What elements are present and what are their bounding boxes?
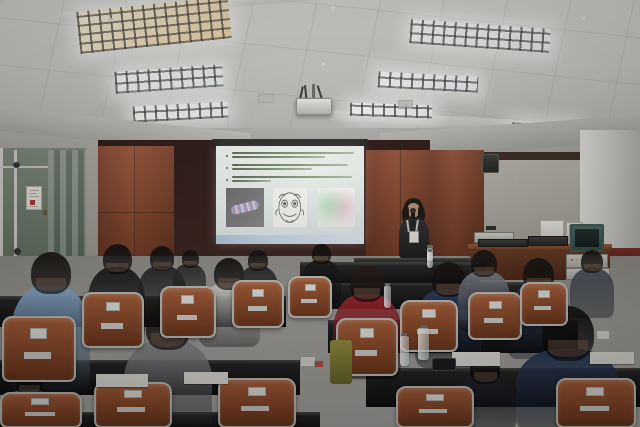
chair-asset-tag <box>106 302 120 311</box>
water-bottle-podium <box>427 252 433 268</box>
door-rail <box>0 166 48 168</box>
chair-asset-tag <box>30 328 47 339</box>
bottle-cap <box>420 325 428 328</box>
downlight-icon <box>108 18 115 22</box>
person-neck <box>36 278 66 291</box>
chair-asset-tag <box>538 290 550 298</box>
person-neck <box>354 288 380 299</box>
person-neck <box>153 262 171 270</box>
chair[interactable] <box>0 392 82 427</box>
ceiling-vent <box>258 94 274 103</box>
id-badge <box>409 231 419 243</box>
downlight-icon <box>444 66 450 70</box>
projection-screen <box>216 146 364 244</box>
water-bottle-back <box>384 286 391 308</box>
chair-label-strip <box>117 407 145 412</box>
chair-asset-tag <box>124 390 142 398</box>
person-neck <box>314 256 328 262</box>
color-diagram-image <box>317 188 356 227</box>
screen-housing <box>212 139 368 146</box>
person-neck <box>474 372 497 382</box>
chair[interactable] <box>82 292 144 348</box>
chair[interactable] <box>160 286 216 338</box>
chair-asset-tag <box>360 328 374 338</box>
thermos-flask <box>418 328 429 360</box>
chair[interactable] <box>218 378 296 427</box>
line-drawing-image <box>273 188 306 227</box>
slide-footer-band <box>216 235 364 244</box>
door-lock-icon <box>43 210 47 215</box>
chair-back <box>556 378 636 427</box>
slide-bullet <box>226 176 358 184</box>
slide-text-line <box>232 168 311 170</box>
chair-label-strip <box>534 306 551 310</box>
wall-speaker <box>482 154 499 173</box>
chair-label-strip <box>101 323 123 329</box>
chair-asset-tag <box>305 284 316 291</box>
water-bottle-desk-right <box>400 336 409 366</box>
notebook-desk-left <box>184 372 228 384</box>
chair-back <box>232 280 284 328</box>
av-player-deck-2[interactable] <box>528 236 568 246</box>
chair-label-strip <box>248 306 267 311</box>
chair-back <box>468 292 522 340</box>
bottle-cap <box>428 249 432 252</box>
person-neck <box>250 263 265 269</box>
chair-asset-tag <box>586 387 604 396</box>
chair-asset-tag <box>31 398 49 405</box>
downlight-icon <box>580 16 587 20</box>
slide-bullet-lines <box>232 176 358 184</box>
chair-label-strip <box>301 299 317 303</box>
chair-label-strip <box>24 352 51 359</box>
microphone-head <box>410 208 416 213</box>
person-neck <box>474 267 494 275</box>
person-neck <box>584 264 601 271</box>
slide-text-line <box>232 180 271 182</box>
chair-back <box>82 292 144 348</box>
av-small-device <box>486 226 496 230</box>
chair-label-strip <box>241 406 269 411</box>
person-torso <box>570 268 614 318</box>
chair-asset-tag <box>248 387 266 396</box>
ceiling-vent <box>398 100 413 108</box>
slide-bullet <box>226 152 358 160</box>
chair[interactable] <box>520 282 568 326</box>
slide-bullet-lines <box>232 164 358 172</box>
papers-desk-right <box>452 352 500 366</box>
chair[interactable] <box>288 276 332 318</box>
chair-back <box>160 286 216 338</box>
bottle-cap <box>401 333 407 336</box>
chair-label-strip <box>419 409 447 413</box>
mobile-phone-desk[interactable] <box>432 358 456 371</box>
av-player-deck[interactable] <box>478 239 528 247</box>
ceiling-projector <box>292 84 338 120</box>
slide-text-line <box>232 176 351 178</box>
downlight-icon <box>320 62 326 66</box>
bottle-cap <box>427 245 433 248</box>
papers-desk-far-right <box>590 352 634 364</box>
attendee-far-right-back <box>568 250 616 316</box>
molecular-structure-image <box>226 188 263 227</box>
chair[interactable] <box>556 378 636 427</box>
chair-asset-tag <box>252 289 264 297</box>
slide-text-line <box>232 152 354 154</box>
chair-label-strip <box>580 406 609 411</box>
slide-text-line <box>232 164 348 166</box>
chair-label-strip <box>25 412 55 416</box>
papers-desk-left <box>96 374 148 387</box>
crt-monitor <box>570 224 604 252</box>
bag-on-floor <box>330 340 352 384</box>
panel-seam <box>96 212 174 213</box>
chair-label-strip <box>484 318 503 323</box>
chair-back <box>288 276 332 318</box>
photo-scene <box>0 0 640 427</box>
chair[interactable] <box>396 386 474 427</box>
chair-back <box>396 386 474 427</box>
door-notice-sign <box>26 186 42 210</box>
chair-label-strip <box>355 350 377 356</box>
person-neck <box>106 263 128 272</box>
downlight-icon <box>330 6 337 10</box>
downlight-icon <box>186 62 192 66</box>
slide-images <box>226 188 355 227</box>
bottle-cap <box>385 283 390 286</box>
slide-bullet <box>226 164 358 172</box>
person-neck <box>548 340 588 357</box>
chair[interactable] <box>232 280 284 328</box>
slide-bullet-lines <box>232 152 358 160</box>
person-neck <box>184 261 197 266</box>
chair-asset-tag <box>489 301 502 309</box>
chair-label-strip <box>177 315 197 320</box>
chair-back <box>94 382 172 427</box>
chair-asset-tag <box>422 309 436 318</box>
slide-bullet-text <box>226 152 358 188</box>
chair-back <box>520 282 568 326</box>
chair-back <box>2 316 76 382</box>
bullet-dot-icon <box>226 155 228 157</box>
bullet-dot-icon <box>226 167 228 169</box>
floor-outlet-red <box>314 360 324 368</box>
chair-back <box>218 378 296 427</box>
chair[interactable] <box>2 316 76 382</box>
door-handle[interactable] <box>13 162 20 168</box>
slide-text-line <box>232 156 325 158</box>
chair[interactable] <box>94 382 172 427</box>
chair-asset-tag <box>426 394 444 401</box>
bullet-dot-icon <box>226 179 228 181</box>
chair[interactable] <box>468 292 522 340</box>
chair-asset-tag <box>181 295 194 304</box>
